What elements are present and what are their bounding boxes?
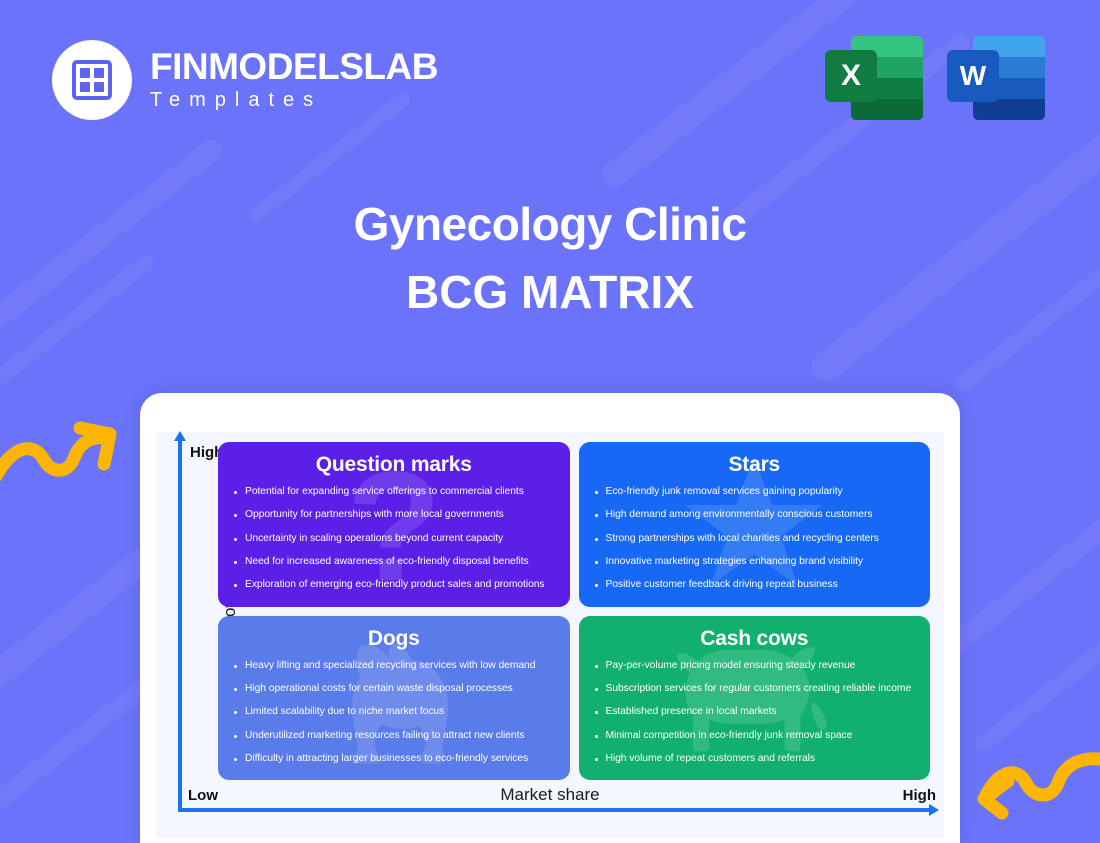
quadrant-title: Question marks bbox=[232, 453, 556, 477]
list-item: High volume of repeat customers and refe… bbox=[593, 753, 917, 766]
list-item: Exploration of emerging eco-friendly pro… bbox=[232, 579, 556, 592]
list-item: High demand among environmentally consci… bbox=[593, 509, 917, 522]
list-item: Subscription services for regular custom… bbox=[593, 683, 917, 696]
arrow-doodle-up-right-icon bbox=[0, 410, 124, 500]
page-title: Gynecology Clinic BCG MATRIX bbox=[0, 196, 1100, 320]
quadrant-stars[interactable]: Stars Eco-friendly junk removal services… bbox=[579, 442, 931, 607]
quadrant-title: Stars bbox=[593, 453, 917, 477]
arrow-doodle-down-left-icon bbox=[972, 735, 1100, 825]
excel-letter: X bbox=[825, 50, 877, 102]
list-item: Need for increased awareness of eco-frie… bbox=[232, 556, 556, 569]
x-axis-label: Market share bbox=[156, 785, 944, 805]
list-item: Heavy lifting and specialized recycling … bbox=[232, 660, 556, 673]
grid-icon bbox=[72, 60, 112, 100]
header: FINMODELSLAB Templates X W bbox=[0, 0, 1100, 160]
matrix-panel: High Market growth Low Market share High… bbox=[156, 432, 944, 838]
quadrant-title: Cash cows bbox=[593, 627, 917, 651]
brand-tagline: Templates bbox=[150, 89, 438, 112]
brand-logo[interactable]: FINMODELSLAB Templates bbox=[52, 40, 438, 120]
list-item: Opportunity for partnerships with more l… bbox=[232, 509, 556, 522]
list-item: Pay-per-volume pricing model ensuring st… bbox=[593, 660, 917, 673]
quadrant-question-marks[interactable]: ? Question marks Potential for expanding… bbox=[218, 442, 570, 607]
y-axis bbox=[178, 439, 182, 812]
quadrant-bullet-list: Heavy lifting and specialized recycling … bbox=[232, 660, 556, 766]
excel-icon[interactable]: X bbox=[825, 28, 923, 120]
word-icon[interactable]: W bbox=[947, 28, 1045, 120]
list-item: Minimal competition in eco-friendly junk… bbox=[593, 730, 917, 743]
list-item: Potential for expanding service offering… bbox=[232, 486, 556, 499]
list-item: Difficulty in attracting larger business… bbox=[232, 753, 556, 766]
quadrant-cash-cows[interactable]: Cash cows Pay-per-volume pricing model e… bbox=[579, 616, 931, 781]
quadrant-title: Dogs bbox=[232, 627, 556, 651]
quadrant-bullet-list: Potential for expanding service offering… bbox=[232, 486, 556, 592]
quadrant-grid: ? Question marks Potential for expanding… bbox=[218, 442, 930, 780]
quadrant-dogs[interactable]: Dogs Heavy lifting and specialized recyc… bbox=[218, 616, 570, 781]
list-item: High operational costs for certain waste… bbox=[232, 683, 556, 696]
format-icons: X W bbox=[825, 28, 1045, 120]
title-primary: Gynecology Clinic bbox=[0, 196, 1100, 252]
list-item: Uncertainty in scaling operations beyond… bbox=[232, 533, 556, 546]
list-item: Innovative marketing strategies enhancin… bbox=[593, 556, 917, 569]
brand-name: FINMODELSLAB bbox=[150, 48, 438, 87]
list-item: Strong partnerships with local charities… bbox=[593, 533, 917, 546]
list-item: Limited scalability due to niche market … bbox=[232, 706, 556, 719]
bcg-matrix-card: High Market growth Low Market share High… bbox=[140, 393, 960, 843]
quadrant-bullet-list: Pay-per-volume pricing model ensuring st… bbox=[593, 660, 917, 766]
word-letter: W bbox=[947, 50, 999, 102]
list-item: Underutilized marketing resources failin… bbox=[232, 730, 556, 743]
list-item: Established presence in local markets bbox=[593, 706, 917, 719]
title-secondary: BCG MATRIX bbox=[0, 264, 1100, 320]
x-axis-high-label: High bbox=[903, 787, 936, 804]
list-item: Eco-friendly junk removal services gaini… bbox=[593, 486, 917, 499]
x-axis bbox=[178, 808, 930, 812]
logo-badge bbox=[52, 40, 132, 120]
quadrant-bullet-list: Eco-friendly junk removal services gaini… bbox=[593, 486, 917, 592]
list-item: Positive customer feedback driving repea… bbox=[593, 579, 917, 592]
